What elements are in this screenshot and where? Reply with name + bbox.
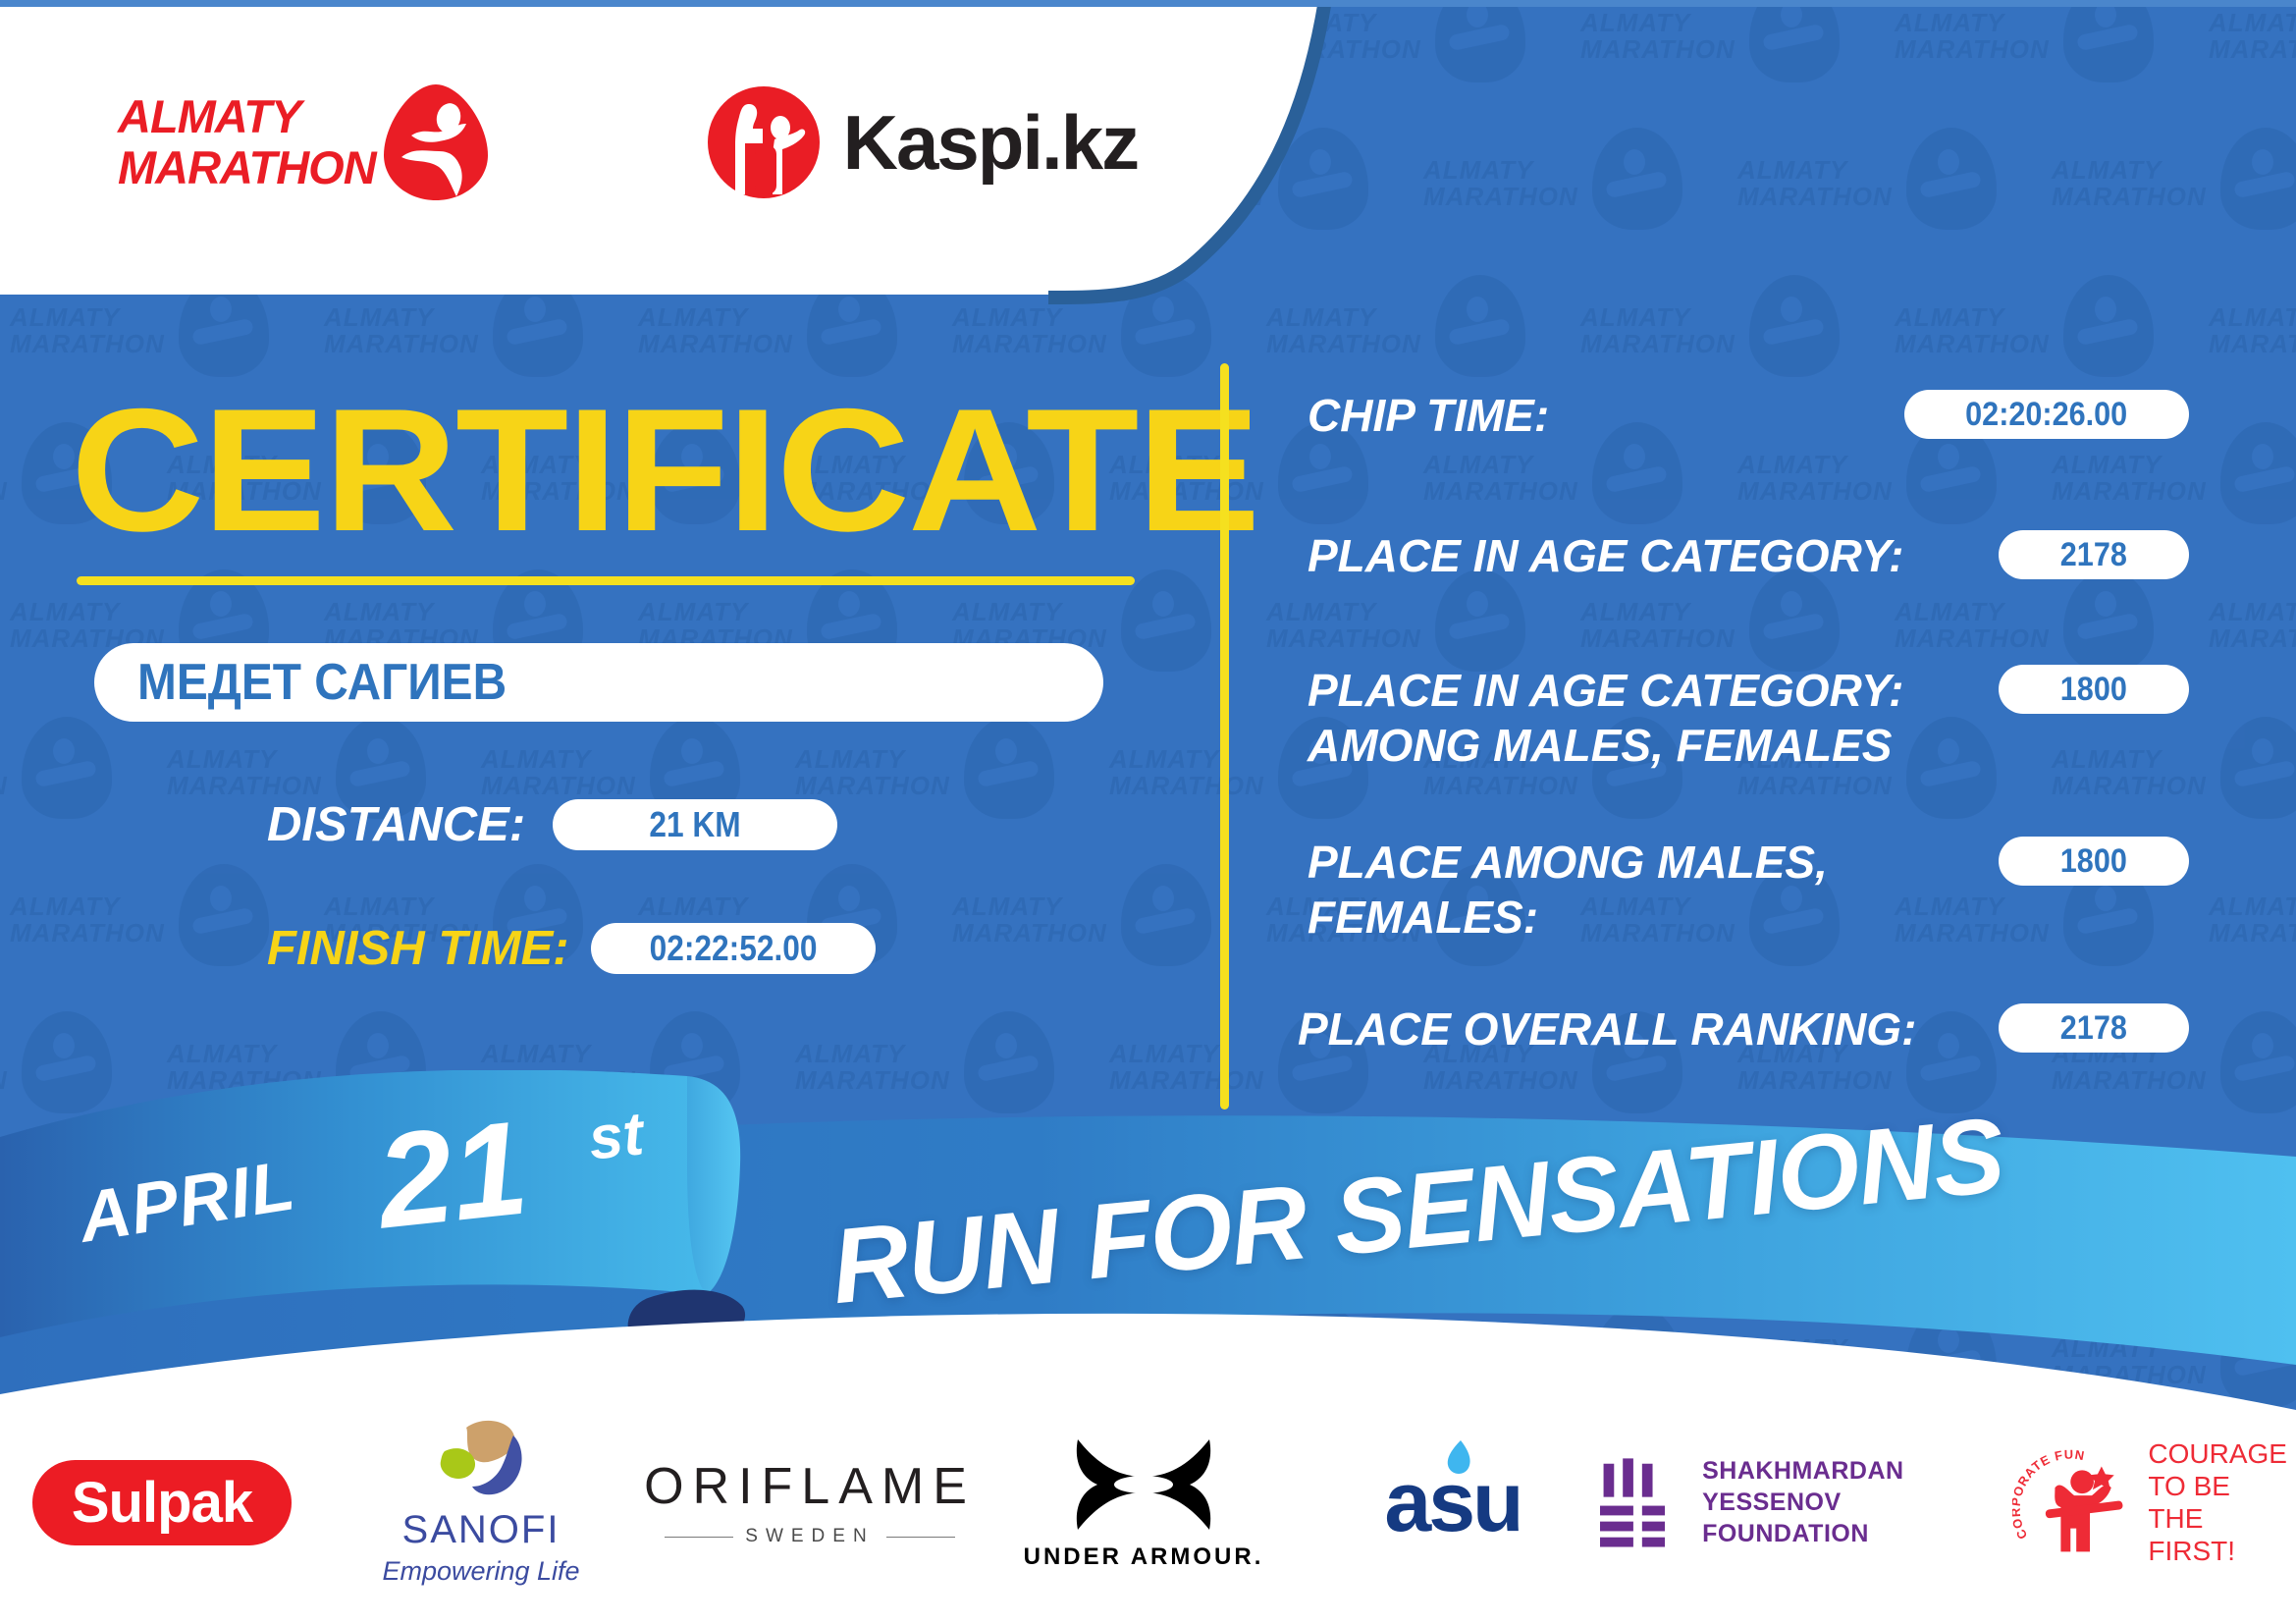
- watermark-runner-icon: [22, 717, 112, 819]
- watermark-text: ALMATYMARATHON: [1266, 599, 1421, 652]
- page-title: CERTIFICATE: [71, 383, 1258, 558]
- title-underline: [77, 576, 1135, 585]
- result-value-chip-time: 02:20:26.00: [1965, 396, 2127, 434]
- marathon-logo-line2: MARATHON: [118, 142, 376, 193]
- result-value-place-age-category-among: 1800: [2060, 671, 2127, 709]
- watermark-text: ALMATYMARATHON: [0, 746, 8, 799]
- sulpak-label: Sulpak: [72, 1471, 252, 1535]
- yessenov-logo: SHAKHMARDAN YESSENOV FOUNDATION: [1600, 1453, 2012, 1551]
- field-distance-value-pill: 21 KM: [553, 799, 837, 850]
- kaspi-logo: Kaspi.kz: [706, 84, 1138, 200]
- yessenov-bars-icon: [1600, 1453, 1681, 1551]
- participant-name-field: МЕДЕТ САГИЕВ: [94, 643, 1103, 722]
- watermark-text: ALMATYMARATHON: [2209, 893, 2296, 947]
- watermark-text: ALMATYMARATHON: [2052, 746, 2207, 799]
- sponsor-logo-row: Sulpak SANOFI Empowering Life ORIFLAME S…: [0, 1414, 2296, 1591]
- field-distance-value: 21 KM: [649, 804, 740, 845]
- sulpak-logo: Sulpak: [32, 1460, 292, 1545]
- courage-child-icon: CORPORATE FUND: [2012, 1444, 2138, 1560]
- oriflame-rule-left: [665, 1537, 733, 1538]
- watermark-text: ALMATYMARATHON: [952, 893, 1107, 947]
- sanofi-label: SANOFI: [402, 1508, 561, 1552]
- courage-line1: COURAGE: [2148, 1437, 2296, 1470]
- sanofi-logo: SANOFI Empowering Life: [382, 1418, 579, 1587]
- kaspi-people-icon: [706, 84, 822, 200]
- watermark-text: ALMATYMARATHON: [1109, 746, 1264, 799]
- watermark-text: ALMATYMARATHON: [1737, 452, 1893, 505]
- watermark-runner-icon: [1749, 569, 1840, 672]
- watermark-runner-icon: [964, 717, 1054, 819]
- courage-text: COURAGE TO BE THE FIRST!: [2148, 1437, 2296, 1567]
- watermark-tile: ALMATYMARATHON: [942, 854, 1256, 1001]
- watermark-runner-icon: [1121, 569, 1211, 672]
- field-finish-time-label: FINISH TIME:: [267, 921, 569, 976]
- result-value-pill-place-overall-ranking: 2178: [1999, 1003, 2189, 1053]
- watermark-text: ALMATYMARATHON: [795, 746, 950, 799]
- result-label-place-age-category: PLACE IN AGE CATEGORY:: [1308, 528, 1903, 583]
- certificate-root: ALMATYMARATHONALMATYMARATHONALMATYMARATH…: [0, 0, 2296, 1624]
- result-label-place-among-males-females: PLACE AMONG MALES, FEMALES:: [1308, 835, 1828, 945]
- watermark-text: ALMATYMARATHON: [1895, 893, 2050, 947]
- watermark-runner-icon: [1592, 422, 1682, 524]
- watermark-tile: ALMATYMARATHON: [2199, 854, 2296, 1001]
- watermark-tile: ALMATYMARATHON: [0, 707, 157, 854]
- kaspi-wordmark: Kaspi.kz: [843, 98, 1138, 188]
- watermark-text: ALMATYMARATHON: [0, 452, 8, 505]
- watermark-text: ALMATYMARATHON: [1895, 599, 2050, 652]
- field-finish-time: FINISH TIME: 02:22:52.00: [267, 921, 876, 976]
- watermark-text: ALMATYMARATHON: [1580, 599, 1735, 652]
- oriflame-rule-right: [886, 1537, 955, 1538]
- result-label-chip-time: CHIP TIME:: [1308, 388, 1549, 443]
- watermark-text: ALMATYMARATHON: [2052, 452, 2207, 505]
- almaty-marathon-wordmark: ALMATY MARATHON: [118, 91, 376, 193]
- almaty-marathon-runner-icon: [382, 82, 490, 202]
- courage-line3: THE FIRST!: [2148, 1502, 2296, 1567]
- column-divider: [1220, 363, 1229, 1110]
- oriflame-tagline: SWEDEN: [745, 1526, 874, 1547]
- result-value-place-among-males-females: 1800: [2060, 842, 2127, 881]
- banner-day-suffix: st: [585, 1099, 646, 1173]
- field-finish-time-value-pill: 02:22:52.00: [591, 923, 876, 974]
- courage-line2: TO BE: [2148, 1470, 2296, 1502]
- result-value-place-overall-ranking: 2178: [2060, 1009, 2127, 1048]
- yessenov-line2: FOUNDATION: [1702, 1518, 2012, 1549]
- watermark-text: ALMATYMARATHON: [481, 746, 636, 799]
- watermark-runner-icon: [1435, 569, 1525, 672]
- under-armour-icon: [1070, 1434, 1217, 1536]
- yessenov-text: SHAKHMARDAN YESSENOV FOUNDATION: [1702, 1455, 2012, 1549]
- result-value-place-age-category: 2178: [2060, 536, 2127, 574]
- asu-logo: asu: [1384, 1454, 1521, 1551]
- oriflame-logo: ORIFLAME SWEDEN: [644, 1457, 976, 1547]
- oriflame-sub: SWEDEN: [665, 1526, 954, 1547]
- field-distance: DISTANCE: 21 KM: [267, 797, 837, 852]
- yessenov-line1: SHAKHMARDAN YESSENOV: [1702, 1455, 2012, 1518]
- watermark-runner-icon: [179, 864, 269, 966]
- watermark-runner-icon: [2063, 569, 2154, 672]
- watermark-tile: ALMATYMARATHON: [2199, 560, 2296, 707]
- under-armour-logo: UNDER ARMOUR.: [1024, 1434, 1264, 1571]
- result-value-pill-place-age-category: 2178: [1999, 530, 2189, 579]
- sanofi-tagline: Empowering Life: [382, 1556, 579, 1587]
- under-armour-label: UNDER ARMOUR.: [1024, 1543, 1264, 1571]
- sponsor-asu: asu: [1306, 1454, 1600, 1551]
- sponsor-under-armour: UNDER ARMOUR.: [982, 1434, 1306, 1571]
- oriflame-label: ORIFLAME: [644, 1457, 976, 1516]
- field-distance-label: DISTANCE:: [267, 797, 525, 852]
- almaty-marathon-logo: ALMATY MARATHON: [118, 82, 490, 202]
- marathon-logo-line1: ALMATY: [118, 91, 376, 142]
- sponsor-oriflame: ORIFLAME SWEDEN: [638, 1457, 982, 1547]
- watermark-runner-icon: [2220, 422, 2296, 524]
- watermark-text: ALMATYMARATHON: [167, 746, 322, 799]
- banner-day: 21: [370, 1091, 534, 1259]
- sponsor-sulpak: Sulpak: [0, 1460, 324, 1545]
- watermark-runner-icon: [2220, 717, 2296, 819]
- sponsor-yessenov-foundation: SHAKHMARDAN YESSENOV FOUNDATION: [1600, 1453, 2012, 1551]
- watermark-runner-icon: [1121, 864, 1211, 966]
- result-label-place-overall-ranking: PLACE OVERALL RANKING:: [1298, 1001, 1916, 1056]
- header-logo-row: ALMATY MARATHON: [0, 0, 1138, 285]
- courage-logo: CORPORATE FUND COURAGE TO BE THE FIRST!: [2012, 1437, 2296, 1567]
- watermark-text: ALMATYMARATHON: [1423, 452, 1578, 505]
- watermark-text: ALMATYMARATHON: [10, 893, 165, 947]
- participant-name: МЕДЕТ САГИЕВ: [137, 653, 507, 712]
- watermark-text: ALMATYMARATHON: [2209, 599, 2296, 652]
- result-value-pill-place-among-males-females: 1800: [1999, 837, 2189, 886]
- sponsor-sanofi: SANOFI Empowering Life: [324, 1418, 638, 1587]
- sponsor-courage-to-be-the-first: CORPORATE FUND COURAGE TO BE THE FIRST!: [2012, 1437, 2296, 1567]
- watermark-runner-icon: [1906, 717, 1997, 819]
- asu-drop-icon: [1443, 1438, 1476, 1478]
- result-value-pill-chip-time: 02:20:26.00: [1904, 390, 2189, 439]
- result-value-pill-place-age-category-among: 1800: [1999, 665, 2189, 714]
- watermark-tile: ALMATYMARATHON: [2042, 707, 2296, 854]
- field-finish-time-value: 02:22:52.00: [649, 928, 817, 969]
- result-label-place-age-category-among: PLACE IN AGE CATEGORY: AMONG MALES, FEMA…: [1308, 663, 1903, 773]
- sanofi-bird-icon: [423, 1418, 539, 1502]
